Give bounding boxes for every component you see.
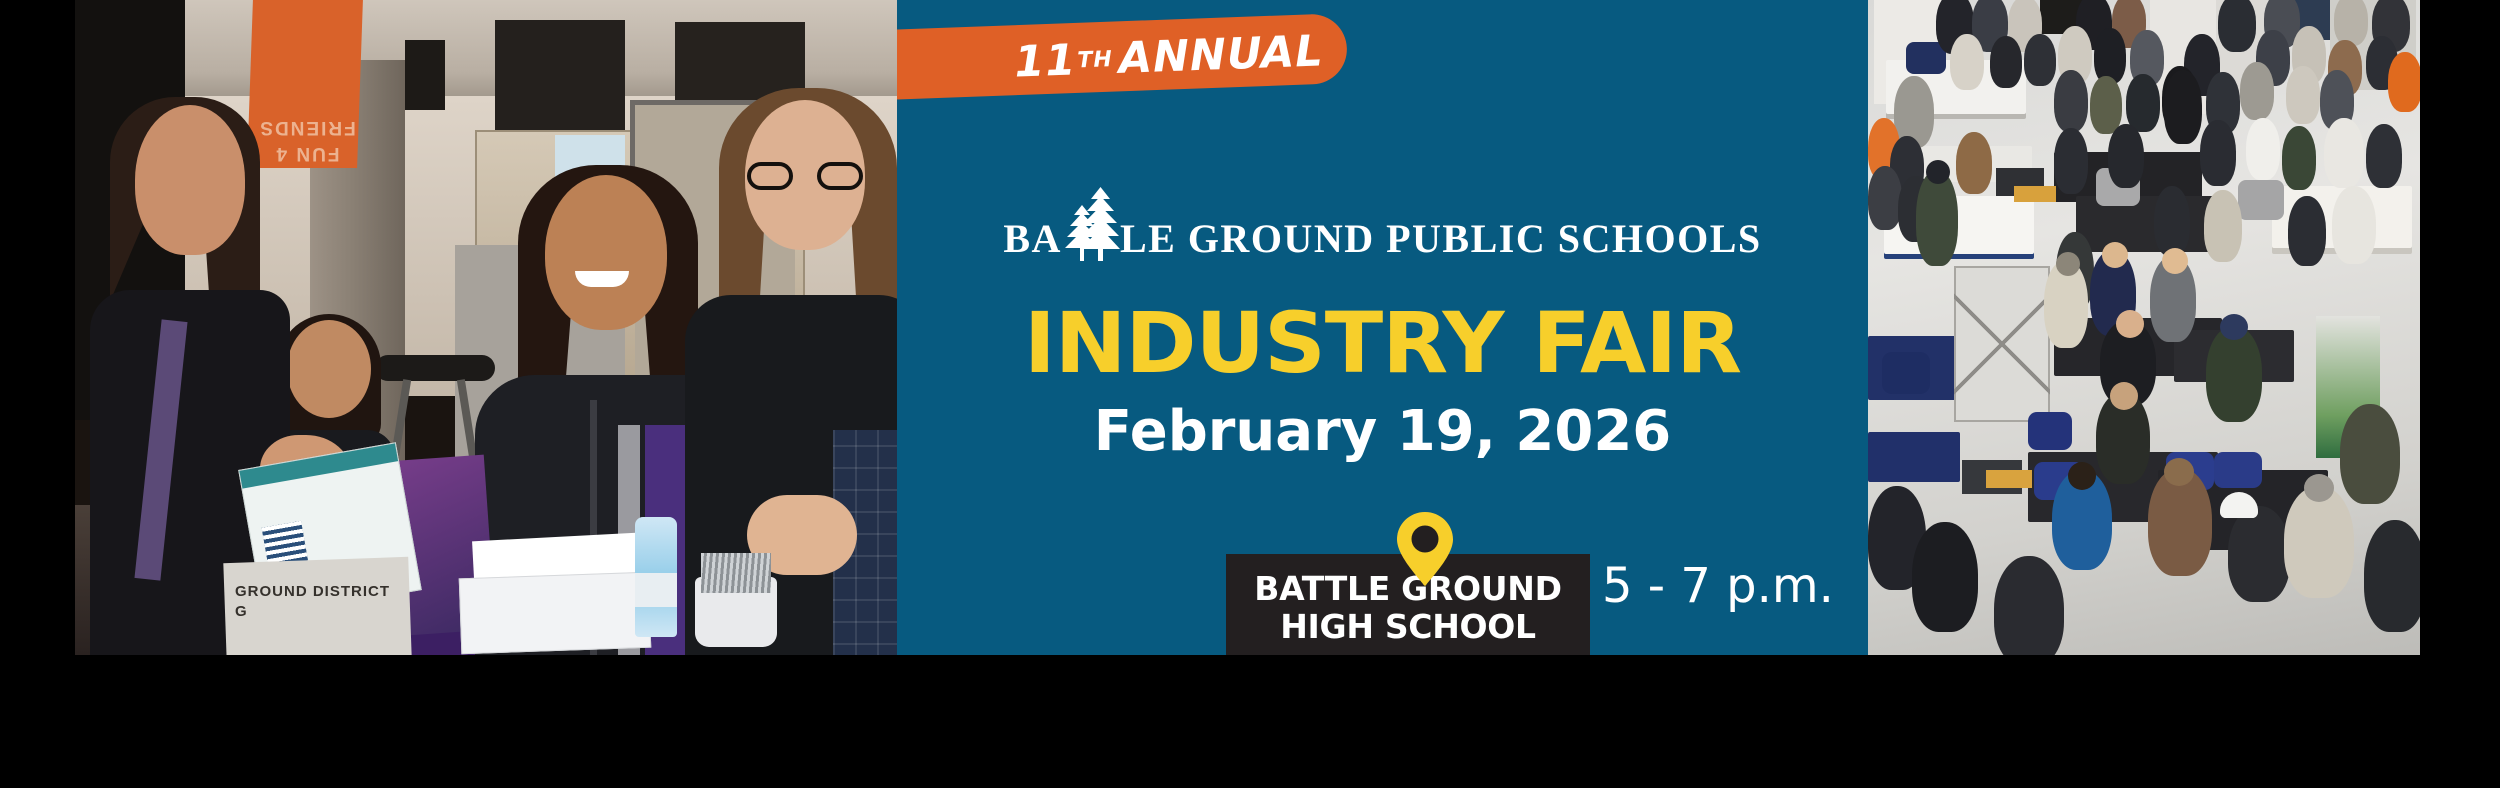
pine-trees-icon — [1060, 185, 1122, 263]
exhibit-table — [2076, 196, 2224, 252]
attendee — [2332, 186, 2376, 264]
attendee-head — [2056, 252, 2080, 276]
attendee — [2024, 34, 2056, 86]
water-bottle-label — [635, 573, 677, 607]
attendee — [2246, 118, 2280, 180]
attendee — [2094, 28, 2126, 84]
attendee-head — [2102, 242, 2128, 268]
attendee — [2164, 70, 2202, 144]
attendee — [2054, 70, 2088, 132]
attendee — [2204, 190, 2242, 262]
attendee — [1916, 170, 1958, 266]
attendee — [1912, 522, 1978, 632]
floor-mat — [1986, 470, 2032, 488]
chair — [2214, 452, 2262, 488]
event-title: INDUSTRY FAIR — [897, 297, 1868, 389]
attendee — [2288, 196, 2326, 266]
attendee-head — [2164, 458, 2194, 486]
attendee — [1990, 36, 2022, 88]
display-backdrop-frame — [1954, 266, 2050, 422]
attendee — [2240, 62, 2274, 120]
wall-panel — [495, 20, 625, 145]
table-literature — [459, 572, 652, 655]
attendee — [1956, 132, 1992, 194]
attendee — [2126, 74, 2160, 132]
ribbon-word: ANNUAL — [1118, 26, 1325, 83]
attendee — [2090, 76, 2122, 134]
attendee — [2334, 0, 2368, 46]
attendee — [2206, 326, 2262, 422]
attendee-head — [2304, 474, 2334, 502]
attendee — [2054, 128, 2088, 194]
wall-speaker — [405, 40, 445, 110]
attendee — [2324, 118, 2364, 188]
attendee — [2282, 126, 2316, 190]
ribbon-ordinal-suffix: TH — [1077, 47, 1113, 73]
left-photo-scene: FUN 4 FRIENDS — [75, 0, 897, 655]
attendee — [2218, 0, 2256, 52]
attendee — [2364, 520, 2420, 632]
map-pin-icon — [1397, 512, 1453, 586]
attendee — [2340, 404, 2400, 504]
chair — [2028, 412, 2072, 450]
attendee — [2154, 186, 2190, 256]
attendee-head — [1926, 160, 1950, 184]
floor-mat — [2014, 186, 2056, 202]
photo-fair-overview — [1868, 0, 2420, 655]
eyeglasses-icon — [747, 162, 863, 190]
event-time: 5 - 7 p.m. — [1602, 558, 1832, 614]
attendee-head — [2110, 382, 2138, 410]
event-date: February 19, 2026 — [897, 400, 1868, 464]
attendee-head — [2116, 310, 2144, 338]
attendee-head — [2220, 314, 2248, 340]
industry-fair-banner: FUN 4 FRIENDS — [0, 0, 2500, 788]
pens — [701, 553, 771, 593]
attendee — [2108, 124, 2144, 188]
district-logo-suffix: LE GROUND PUBLIC SCHOOLS — [1120, 217, 1762, 261]
attendee — [2366, 124, 2402, 188]
attendee — [1950, 34, 1984, 90]
attendee-head — [2162, 248, 2188, 274]
photo-career-fair-booth: FUN 4 FRIENDS — [75, 0, 897, 655]
attendee — [1994, 556, 2064, 655]
attendee — [2284, 486, 2354, 598]
district-logo: BA — [897, 185, 1868, 261]
event-info-panel: 11THANNUAL BA — [897, 0, 1868, 655]
annual-ribbon-label: 11THANNUAL — [958, 16, 1380, 97]
attendee — [2228, 506, 2290, 602]
exhibit-table — [1868, 432, 1960, 482]
district-logo-prefix: BA — [1003, 217, 1062, 261]
attendee — [2200, 120, 2236, 186]
ribbon-number: 11 — [1014, 35, 1078, 87]
attendee — [2388, 52, 2420, 112]
attendee-head — [2068, 462, 2096, 490]
chair — [1882, 352, 1930, 394]
district-tote-bag-text: GROUND DISTRICT G — [235, 582, 405, 622]
attendee — [2286, 66, 2320, 124]
chair — [2238, 180, 2284, 220]
attendee — [1868, 166, 1902, 230]
